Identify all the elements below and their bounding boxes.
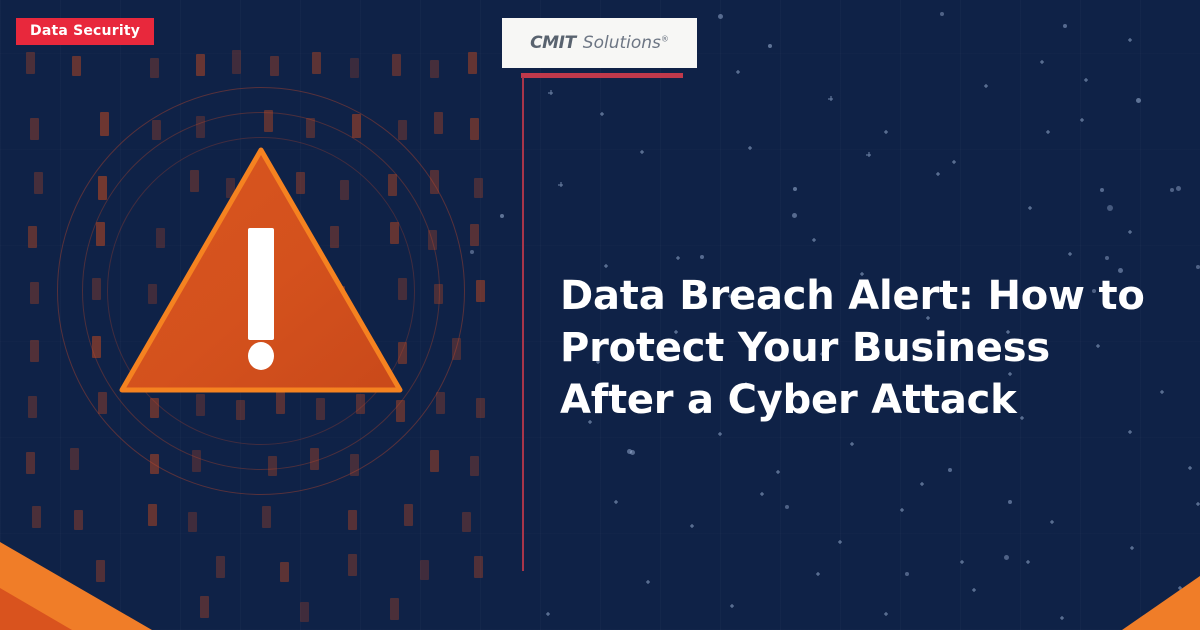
particle-sparkle (748, 146, 752, 150)
particle-dot (470, 250, 474, 254)
particle-sparkle (1028, 206, 1032, 210)
page-title-line-1: Data Breach Alert: How to (560, 270, 1160, 322)
particle-sparkle (972, 588, 976, 592)
registered-mark: ® (661, 34, 669, 43)
particle-sparkle (690, 524, 694, 528)
particle-sparkle (718, 432, 722, 436)
particle-sparkle (646, 580, 650, 584)
brand-logo-text: CMITSolutions® (530, 35, 669, 52)
particle-dot (500, 214, 504, 218)
particle-dot (905, 572, 909, 576)
particle-sparkle (604, 264, 608, 268)
particle-sparkle (1160, 390, 1164, 394)
brand-primary-text: CMIT (530, 33, 576, 53)
particle-sparkle (952, 160, 956, 164)
particle-sparkle (960, 560, 964, 564)
page-title-line-3: After a Cyber Attack (560, 374, 1160, 426)
particle-sparkle (828, 96, 833, 101)
particle-sparkle (1080, 118, 1084, 122)
particle-dot (1136, 98, 1141, 103)
page-title-line-2: Protect Your Business (560, 322, 1160, 374)
particle-sparkle (776, 470, 780, 474)
particle-sparkle (1128, 38, 1132, 42)
particle-dot (1100, 188, 1104, 192)
particle-sparkle (838, 540, 842, 544)
particle-dot (1107, 205, 1113, 211)
particle-sparkle (1060, 616, 1064, 620)
particle-sparkle (600, 112, 604, 116)
particle-sparkle (1128, 430, 1132, 434)
particle-sparkle (546, 612, 550, 616)
particle-dot (948, 468, 952, 472)
particle-sparkle (866, 152, 871, 157)
warning-triangle-icon (118, 146, 404, 394)
particle-sparkle (1196, 502, 1200, 506)
particle-sparkle (730, 604, 734, 608)
particle-sparkle (1050, 520, 1054, 524)
brand-logo[interactable]: CMITSolutions® (502, 18, 697, 68)
page-title: Data Breach Alert: How to Protect Your B… (560, 270, 1160, 426)
particle-dot (785, 505, 789, 509)
particle-sparkle (558, 182, 563, 187)
particle-sparkle (1046, 130, 1050, 134)
particle-sparkle (816, 572, 820, 576)
particle-dot (1004, 555, 1009, 560)
particle-dot (718, 14, 723, 19)
social-card: Data Security CMITSolutions® Data Breach… (0, 0, 1200, 630)
particle-sparkle (1026, 560, 1030, 564)
status-badge: Data Security (16, 18, 154, 45)
particle-dot (940, 12, 944, 16)
particle-sparkle (884, 612, 888, 616)
particle-dot (1196, 265, 1200, 269)
particle-sparkle (920, 482, 924, 486)
particle-dot (792, 213, 797, 218)
particle-sparkle (850, 442, 854, 446)
particle-dot (627, 449, 632, 454)
particle-sparkle (1040, 60, 1044, 64)
particle-sparkle (1084, 78, 1088, 82)
particle-dot (1170, 188, 1174, 192)
particle-dot (700, 255, 704, 259)
particle-dot (1105, 256, 1109, 260)
particle-sparkle (1068, 252, 1072, 256)
particle-dot (1008, 500, 1012, 504)
particle-sparkle (1128, 230, 1132, 234)
particle-sparkle (1188, 466, 1192, 470)
particle-sparkle (1130, 546, 1134, 550)
particle-dot (793, 187, 797, 191)
particle-sparkle (984, 84, 988, 88)
particle-sparkle (676, 256, 680, 260)
particle-sparkle (900, 508, 904, 512)
particle-sparkle (812, 238, 816, 242)
particle-dot (768, 44, 772, 48)
vertical-divider-line (522, 77, 524, 571)
particle-sparkle (614, 500, 618, 504)
particle-sparkle (736, 70, 740, 74)
logo-underline-bar (521, 73, 683, 78)
particle-sparkle (884, 130, 888, 134)
particle-dot (1176, 186, 1181, 191)
brand-secondary-text: Solutions (583, 33, 661, 53)
particle-sparkle (640, 150, 644, 154)
particle-dot (1063, 24, 1067, 28)
particle-sparkle (548, 90, 553, 95)
particle-sparkle (760, 492, 764, 496)
particle-sparkle (936, 172, 940, 176)
